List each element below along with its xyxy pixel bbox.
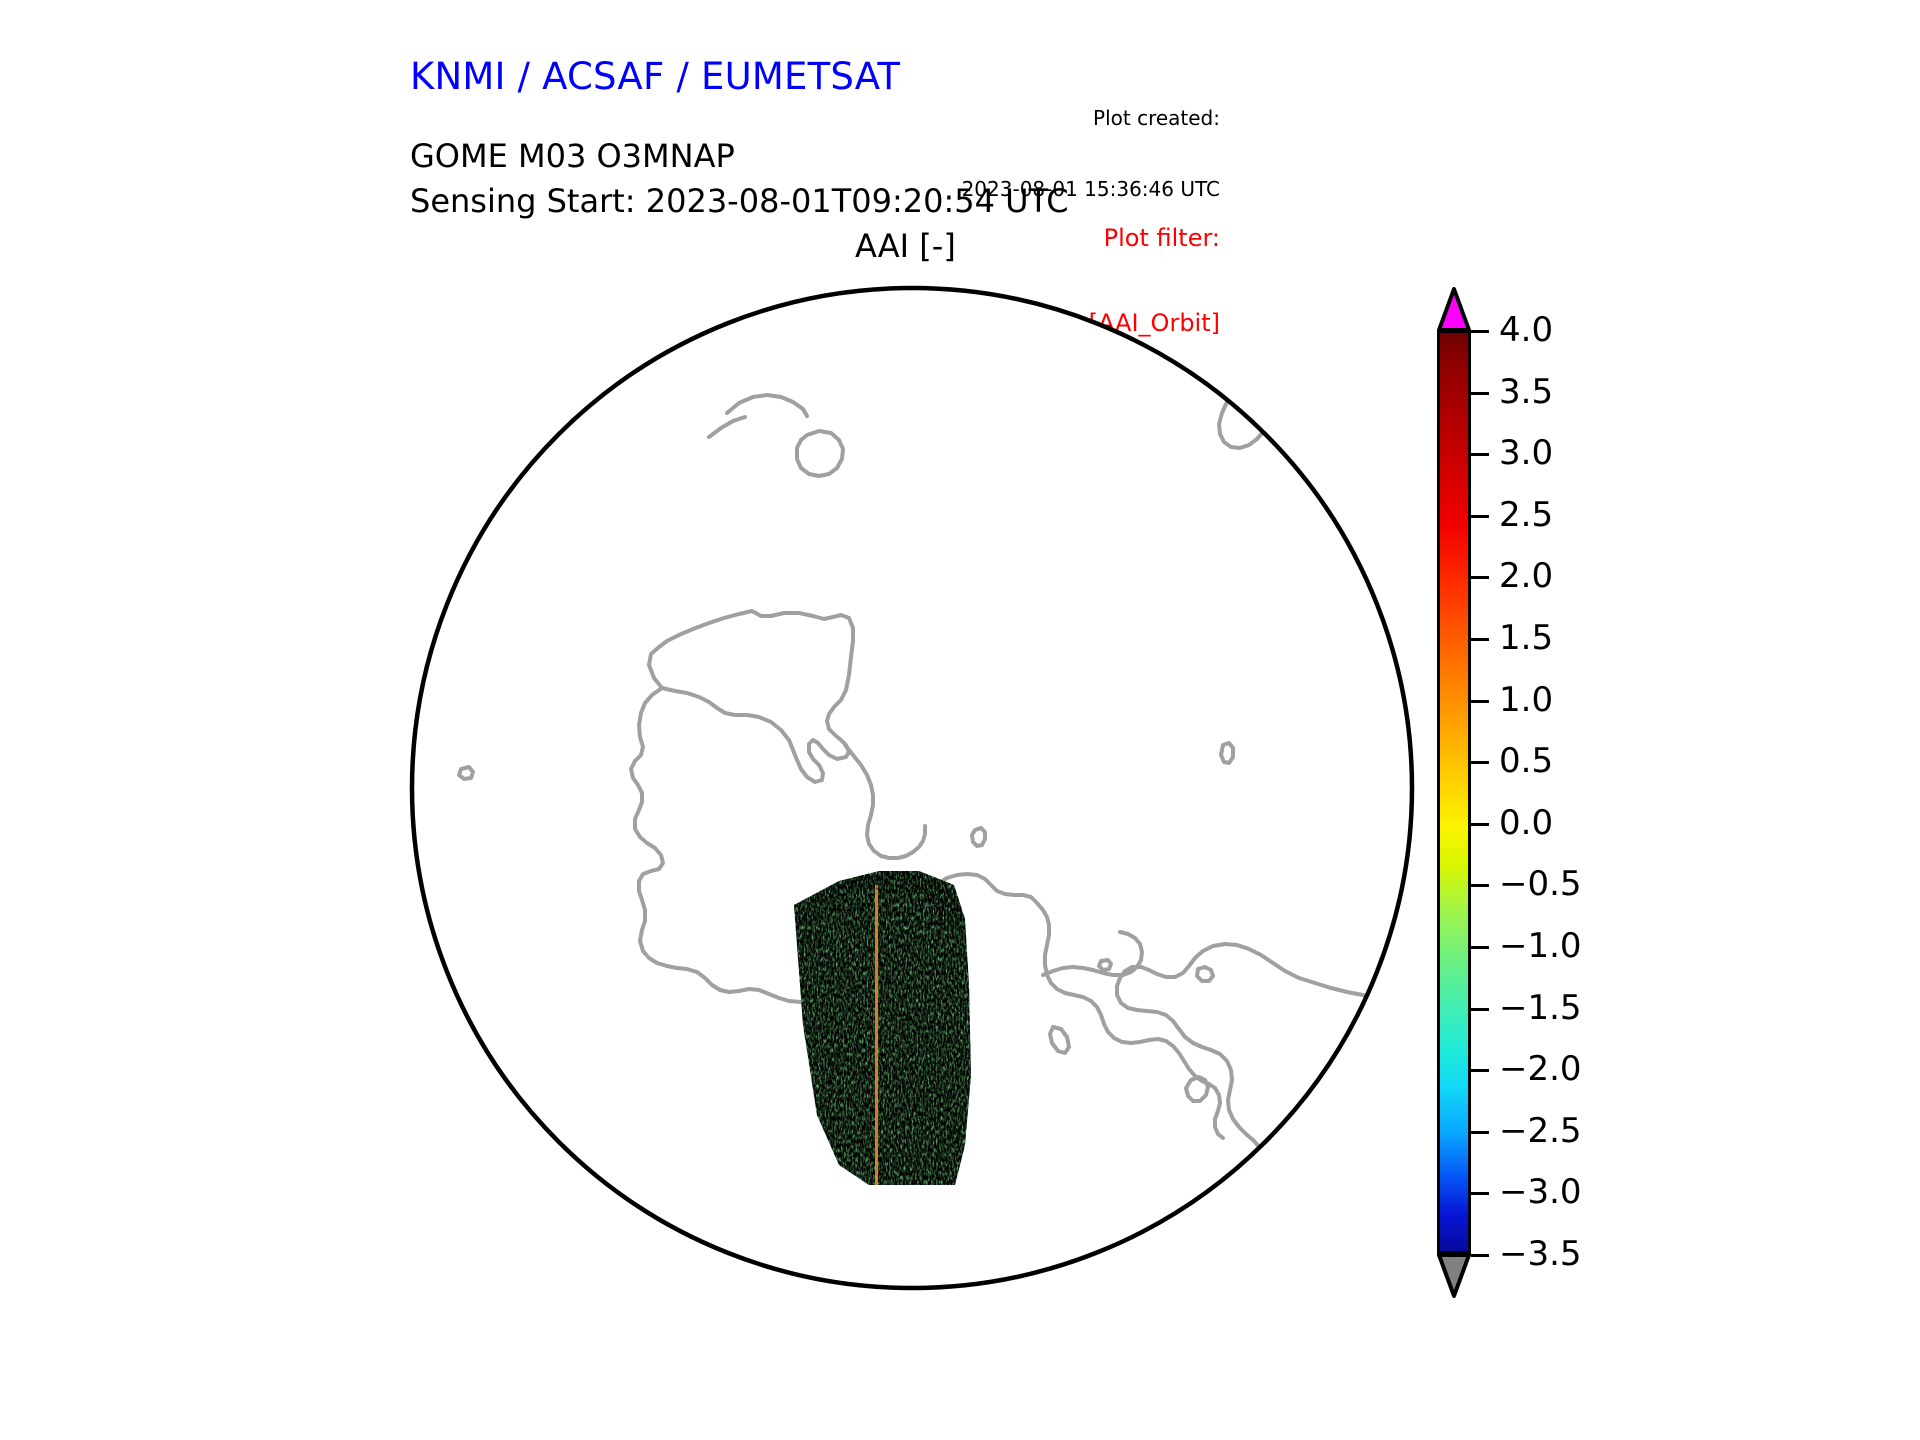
plot-created-label: Plot created:: [962, 107, 1220, 131]
map-plot-area[interactable]: [409, 285, 1415, 1291]
colorbar-tick-label: 0.0: [1499, 803, 1553, 843]
colorbar-tick: [1471, 515, 1489, 518]
colorbar-tick-label: −1.5: [1499, 988, 1582, 1028]
dataset-title: GOME M03 O3MNAP: [410, 138, 735, 176]
colorbar-tick-label: −3.0: [1499, 1172, 1582, 1212]
colorbar-tick: [1471, 1192, 1489, 1195]
colorbar-tick-label: 1.0: [1499, 680, 1553, 720]
colorbar-tick: [1471, 453, 1489, 456]
colorbar-tick: [1471, 638, 1489, 641]
colorbar-tick-label: −0.5: [1499, 864, 1582, 904]
colorbar-tick-label: −3.5: [1499, 1234, 1582, 1274]
colorbar-tick-label: 3.0: [1499, 433, 1553, 473]
colorbar-tick: [1471, 884, 1489, 887]
colorbar-tick-label: 3.5: [1499, 372, 1553, 412]
colorbar-tick-label: −2.0: [1499, 1049, 1582, 1089]
colorbar-over-arrow: [1437, 287, 1471, 331]
colorbar-tick: [1471, 946, 1489, 949]
colorbar-tick-label: 0.5: [1499, 741, 1553, 781]
colorbar-tick: [1471, 1131, 1489, 1134]
colorbar-gradient: [1437, 330, 1471, 1254]
colorbar-tick: [1471, 761, 1489, 764]
plot-filter-label: Plot filter:: [1026, 224, 1220, 252]
colorbar-tick-label: 2.0: [1499, 556, 1553, 596]
colorbar-tick: [1471, 330, 1489, 333]
colorbar-tick: [1471, 392, 1489, 395]
colorbar-under-arrow: [1437, 1252, 1471, 1298]
colorbar-tick-label: 4.0: [1499, 310, 1553, 350]
colorbar-tick: [1471, 823, 1489, 826]
colorbar-tick: [1471, 1254, 1489, 1257]
colorbar-tick-label: 2.5: [1499, 495, 1553, 535]
colorbar-tick: [1471, 1069, 1489, 1072]
colorbar-tick: [1471, 1008, 1489, 1011]
swath-nadir-streak: [875, 885, 878, 1195]
colorbar-tick: [1471, 700, 1489, 703]
colorbar-tick: [1471, 576, 1489, 579]
colorbar: 4.03.53.02.52.01.51.00.50.0−0.5−1.0−1.5−…: [1437, 287, 1857, 1302]
page-title-organisations: KNMI / ACSAF / EUMETSAT: [410, 55, 900, 99]
colorbar-tick-label: 1.5: [1499, 618, 1553, 658]
new-zealand-north-island: [1245, 323, 1277, 373]
colorbar-tick-label: −1.0: [1499, 926, 1582, 966]
quantity-title: AAI [-]: [855, 228, 956, 266]
colorbar-tick-label: −2.5: [1499, 1111, 1582, 1151]
